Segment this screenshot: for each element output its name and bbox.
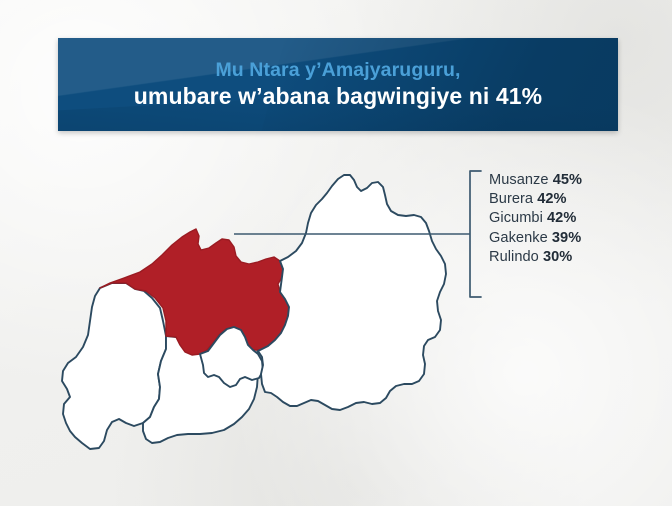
legend-row-musanze[interactable]: Musanze 45% xyxy=(489,171,649,190)
title-line-secondary: umubare w’abana bagwingiye ni 41% xyxy=(134,84,542,110)
infographic-canvas: Mu Ntara y’Amajyaruguru, umubare w’abana… xyxy=(0,0,672,506)
province-eastern[interactable] xyxy=(258,175,446,410)
legend-bracket xyxy=(470,171,481,297)
legend-district-value: 42% xyxy=(537,191,566,207)
legend-row-gakenke[interactable]: Gakenke 39% xyxy=(489,229,649,248)
legend-district-name: Burera xyxy=(489,191,533,207)
map-outline-group xyxy=(62,175,446,449)
legend-row-burera[interactable]: Burera 42% xyxy=(489,190,649,209)
legend-district-name: Musanze xyxy=(489,172,549,188)
district-legend-panel: Musanze 45% Burera 42% Gicumbi 42% Gaken… xyxy=(489,171,649,267)
banner-text-block: Mu Ntara y’Amajyaruguru, umubare w’abana… xyxy=(58,38,618,131)
legend-row-gicumbi[interactable]: Gicumbi 42% xyxy=(489,209,649,228)
legend-district-value: 42% xyxy=(547,210,576,226)
title-line-primary: Mu Ntara y’Amajyaruguru, xyxy=(215,60,460,82)
legend-district-name: Rulindo xyxy=(489,249,539,265)
legend-district-name: Gakenke xyxy=(489,230,548,246)
legend-district-value: 45% xyxy=(553,172,582,188)
title-banner: Mu Ntara y’Amajyaruguru, umubare w’abana… xyxy=(58,38,618,131)
legend-district-value: 30% xyxy=(543,249,572,265)
legend-district-name: Gicumbi xyxy=(489,210,543,226)
legend-district-value: 39% xyxy=(552,230,581,246)
legend-row-rulindo[interactable]: Rulindo 30% xyxy=(489,248,649,267)
